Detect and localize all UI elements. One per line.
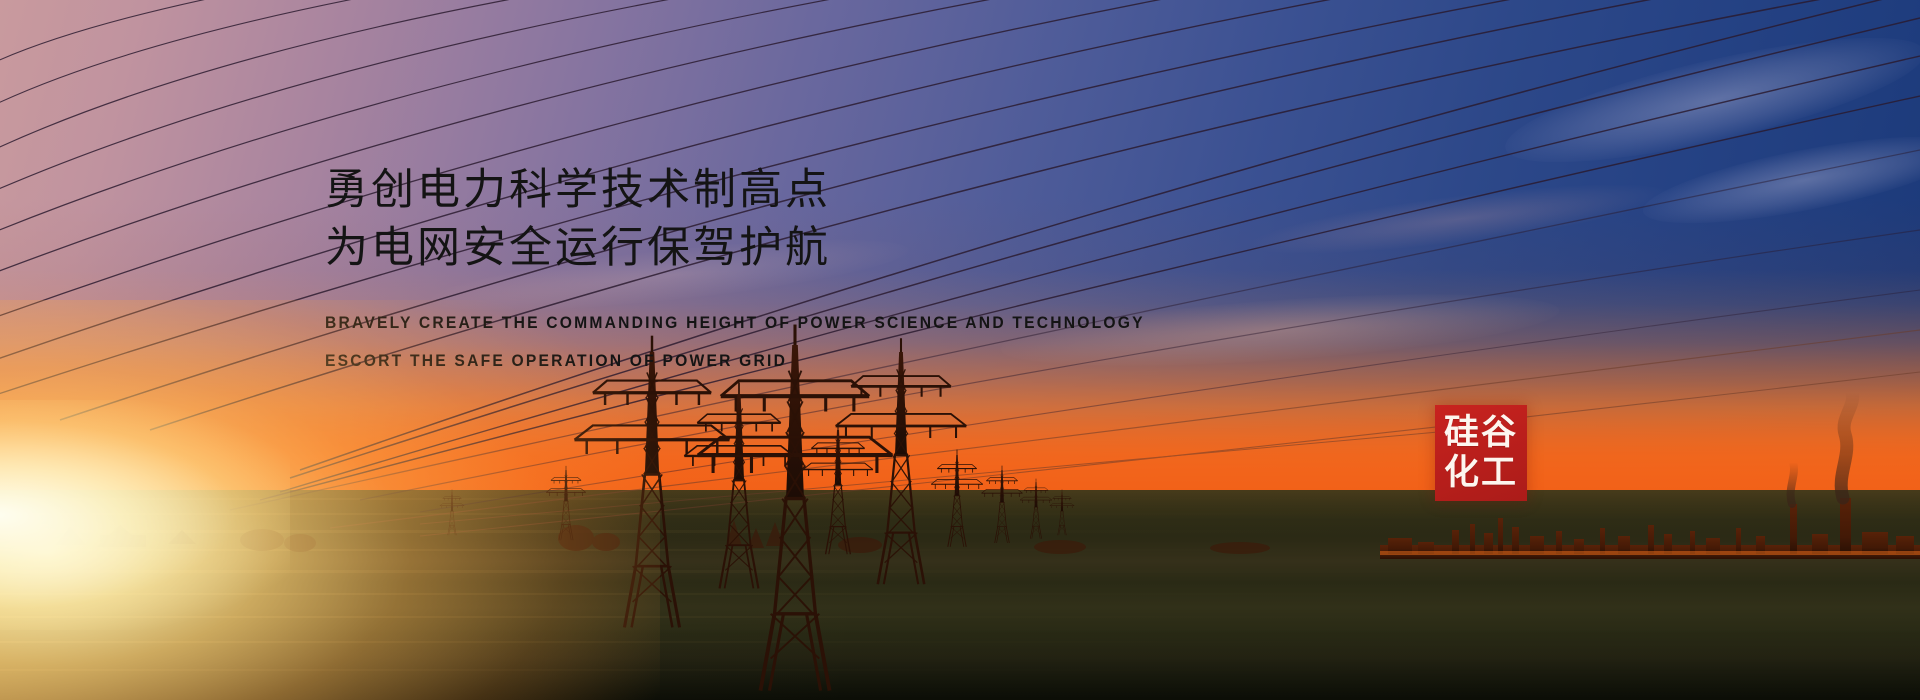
seal-text-line-1: 硅谷: [1444, 413, 1518, 453]
field-sun-wash: [0, 490, 1920, 700]
banner-copy: 勇创电力科学技术制高点 为电网安全运行保驾护航 BRAVELY CREATE T…: [325, 162, 1225, 380]
seal-text-line-2: 化工: [1444, 453, 1518, 493]
subheadline-line-2: ESCORT THE SAFE OPERATION OF POWER GRID: [325, 342, 1153, 380]
company-seal-logo[interactable]: 硅谷 化工: [1435, 405, 1527, 501]
subheadline-block: BRAVELY CREATE THE COMMANDING HEIGHT OF …: [325, 304, 1225, 380]
subheadline-line-1: BRAVELY CREATE THE COMMANDING HEIGHT OF …: [325, 304, 1153, 342]
hero-banner: 勇创电力科学技术制高点 为电网安全运行保驾护航 BRAVELY CREATE T…: [0, 0, 1920, 700]
headline-line-2: 为电网安全运行保驾护航: [325, 220, 1225, 278]
headline-line-1: 勇创电力科学技术制高点: [325, 162, 1225, 220]
